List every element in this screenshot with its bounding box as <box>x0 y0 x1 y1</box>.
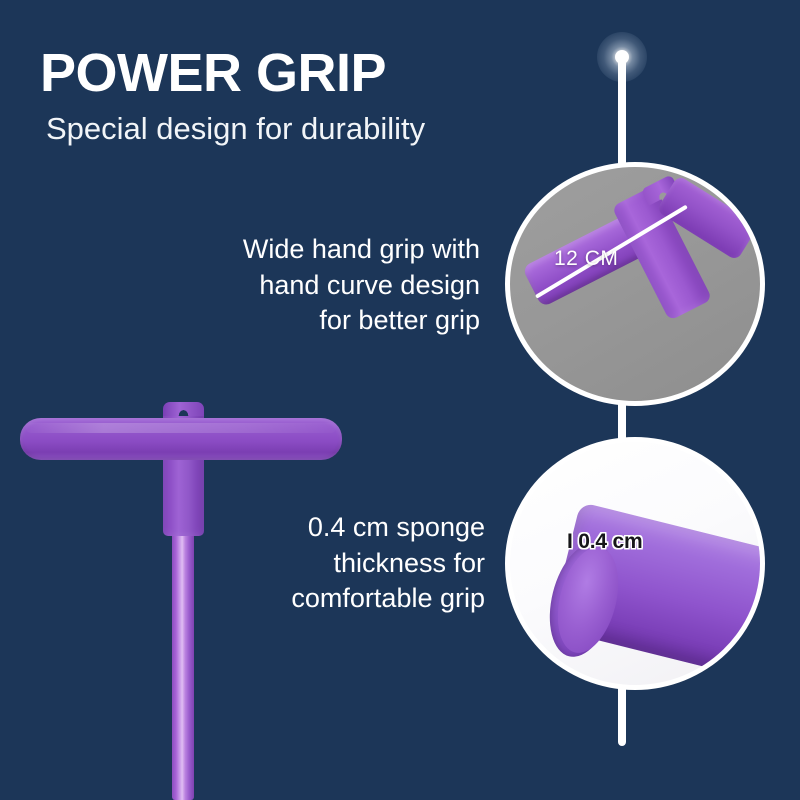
foam-thickness-photo: I 0.4 cm <box>505 437 765 690</box>
measurement-label-04cm: I 0.4 cm <box>567 530 642 554</box>
callout-grip-width: Wide hand grip with hand curve design fo… <box>150 232 480 339</box>
product-handle-highlight <box>26 423 336 433</box>
page-subtitle: Special design for durability <box>46 112 510 146</box>
measurement-label-12cm: 12 CM <box>554 247 618 271</box>
handle-closeup-photo: 12 CM <box>505 162 765 406</box>
product-pole <box>172 520 194 800</box>
page-title: POWER GRIP <box>40 45 510 102</box>
headline-block: POWER GRIP Special design for durability <box>40 45 510 146</box>
infographic-canvas: POWER GRIP Special design for durability… <box>0 0 800 800</box>
product-sleeve-notch <box>163 402 204 416</box>
connector-line-top <box>618 56 626 168</box>
product-image <box>0 380 360 800</box>
